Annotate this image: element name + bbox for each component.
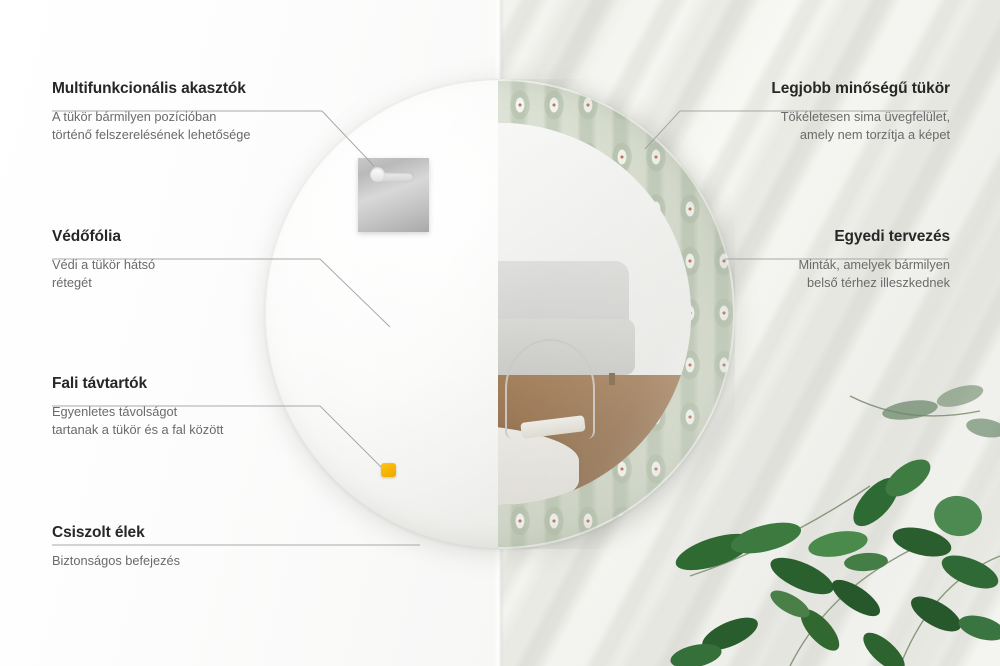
callout-title: Védőfólia (52, 228, 155, 247)
callout-best-quality-mirror: Legjobb minőségű tükör Tökéletesen sima … (771, 80, 950, 145)
callout-description: A tükör bármilyen pozícióban történő fel… (52, 108, 250, 145)
callout-description: Védi a tükör hátsó rétegét (52, 256, 155, 293)
callout-title: Fali távtartók (52, 375, 223, 394)
infographic-canvas: Multifunkcionális akasztók A tükör bármi… (0, 0, 1000, 666)
callout-title: Egyedi tervezés (799, 228, 950, 247)
callout-description: Minták, amelyek bármilyen belső térhez i… (799, 256, 950, 293)
wall-hanger-plate (358, 158, 429, 232)
mirror-glass (498, 123, 691, 505)
callout-wall-spacers: Fali távtartók Egyenletes távolságot tar… (52, 375, 223, 440)
callout-description: Biztonságos befejezés (52, 552, 180, 571)
mirror-front-face (498, 79, 735, 549)
callout-description: Egyenletes távolságot tartanak a tükör é… (52, 403, 223, 440)
mirror-front-clip (498, 79, 735, 549)
callout-title: Multifunkcionális akasztók (52, 80, 250, 99)
callout-title: Legjobb minőségű tükör (771, 80, 950, 99)
callout-multifunctional-hooks: Multifunkcionális akasztók A tükör bármi… (52, 80, 250, 145)
callout-polished-edges: Csiszolt élek Biztonságos befejezés (52, 524, 180, 570)
callout-title: Csiszolt élek (52, 524, 180, 543)
hanger-screw-hole (370, 167, 385, 182)
wall-spacer-pad (381, 463, 396, 477)
callout-description: Tökéletesen sima üvegfelület, amely nem … (771, 108, 950, 145)
callout-protective-film: Védőfólia Védi a tükör hátsó rétegét (52, 228, 155, 293)
product-mirror (265, 79, 735, 549)
glass-reflection-sheen (498, 123, 691, 505)
callout-unique-design: Egyedi tervezés Minták, amelyek bármilye… (799, 228, 950, 293)
